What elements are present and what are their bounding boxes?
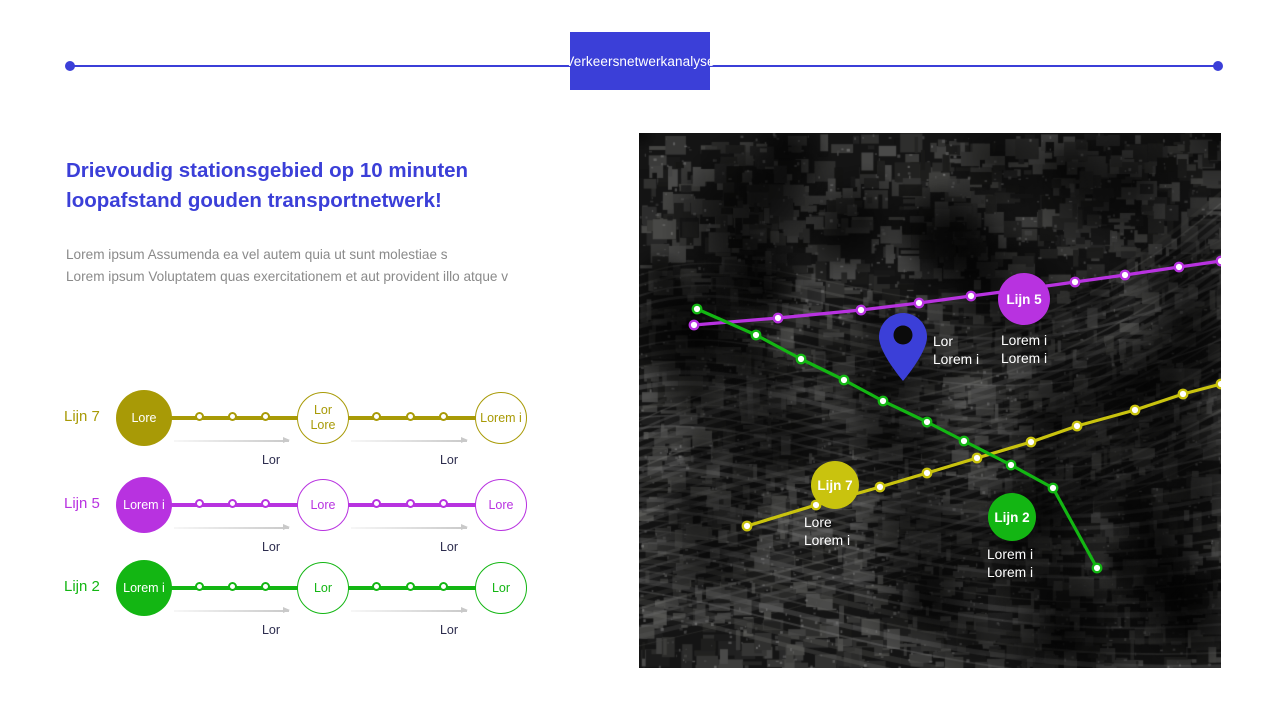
line-minor-stop[interactable] [439,499,448,508]
map-route-stop[interactable] [1176,264,1182,270]
map-route-stop[interactable] [1074,423,1080,429]
map-route-line [694,261,1221,325]
line-minor-stop[interactable] [406,582,415,591]
line-segment-label: Lor [419,540,479,554]
line-segment-label: Lor [241,623,301,637]
map-route-stop[interactable] [1122,272,1128,278]
map-line-badge[interactable]: Lijn 7 [811,461,859,509]
line-interchange-stop[interactable]: Lor [297,562,349,614]
map-route-stop[interactable] [1028,439,1034,445]
subtext-block: Lorem ipsum Assumenda ea vel autem quia … [66,244,606,289]
line-minor-stop[interactable] [372,582,381,591]
line-direction-arrow [351,610,467,612]
map-route-overlay [639,133,1221,668]
stop-label: Lorem i [480,411,522,426]
subtext-line-2: Lorem ipsum Voluptatem quas exercitation… [66,266,606,288]
line-minor-stop[interactable] [372,412,381,421]
header-title-chip: Verkeersnetwerkanalyse [570,32,710,90]
map-caption-line: Lorem i [1001,350,1047,368]
map-route-stop[interactable] [924,470,930,476]
stop-label: Lore [310,498,335,513]
map-route-stop[interactable] [1132,407,1138,413]
line-row-label: Lijn 5 [64,495,122,512]
map-route-stop[interactable] [744,523,750,529]
line-minor-stop[interactable] [372,499,381,508]
map-line-badge[interactable]: Lijn 2 [988,493,1036,541]
map-caption-line: Lorem i [804,532,850,550]
map-route-stop[interactable] [694,306,700,312]
line-interchange-stop[interactable]: Lore [297,479,349,531]
line-segment-label: Lor [241,453,301,467]
map-route-stop[interactable] [916,300,922,306]
map-route-stop[interactable] [880,398,886,404]
stop-label: Lore [131,411,156,426]
map-route-stop[interactable] [877,484,883,490]
line-origin-stop[interactable]: Lore [116,390,172,446]
line-minor-stop[interactable] [228,412,237,421]
map-pin-caption-line: Lorem i [933,351,979,369]
line-minor-stop[interactable] [195,582,204,591]
map-line-caption: LoreLorem i [804,514,850,550]
map-line-caption: Lorem iLorem i [987,546,1033,582]
line-direction-arrow [174,527,289,529]
line-segment-label: Lor [241,540,301,554]
line-minor-stop[interactable] [195,499,204,508]
map-caption-line: Lore [804,514,850,532]
map-route-stop[interactable] [924,419,930,425]
location-pin-icon [877,311,929,383]
map-route-stop[interactable] [1180,391,1186,397]
line-direction-arrow [351,527,467,529]
stop-label: Lor [314,403,332,418]
line-minor-stop[interactable] [439,412,448,421]
map-location-pin[interactable] [877,311,929,388]
map-route-stop[interactable] [1008,462,1014,468]
map-route-stop[interactable] [1050,485,1056,491]
line-minor-stop[interactable] [261,582,270,591]
header-dot-left [65,61,75,71]
map-route-stop[interactable] [858,307,864,313]
line-direction-arrow [174,440,289,442]
map-route-stop[interactable] [775,315,781,321]
map-pin-caption: LorLorem i [933,333,979,369]
map-route-stop[interactable] [968,293,974,299]
line-minor-stop[interactable] [228,582,237,591]
map-route-stop[interactable] [961,438,967,444]
line-row-label: Lijn 7 [64,408,122,425]
stop-label: Lorem i [123,498,165,513]
subtext-line-1: Lorem ipsum Assumenda ea vel autem quia … [66,244,606,266]
map-route-stop[interactable] [691,322,697,328]
stop-label: Lorem i [123,581,165,596]
line-minor-stop[interactable] [406,412,415,421]
line-terminus-stop[interactable]: Lorem i [475,392,527,444]
map-route-stop[interactable] [1072,279,1078,285]
line-origin-stop[interactable]: Lorem i [116,560,172,616]
map-route-stop[interactable] [841,377,847,383]
stop-label: Lor [492,581,510,596]
line-minor-stop[interactable] [195,412,204,421]
map-route-stop[interactable] [798,356,804,362]
map-caption-line: Lorem i [987,564,1033,582]
line-minor-stop[interactable] [406,499,415,508]
page-title: Drievoudig stationsgebied op 10 minuten … [66,156,586,215]
line-minor-stop[interactable] [228,499,237,508]
slide-root: Verkeersnetwerkanalyse Drievoudig statio… [0,0,1280,720]
map-caption-line: Lorem i [987,546,1033,564]
map-line-caption: Lorem iLorem i [1001,332,1047,368]
map-pin-caption-line: Lor [933,333,979,351]
line-minor-stop[interactable] [261,499,270,508]
header-dot-right [1213,61,1223,71]
map-route-stop[interactable] [974,455,980,461]
line-origin-stop[interactable]: Lorem i [116,477,172,533]
line-direction-arrow [351,440,467,442]
line-terminus-stop[interactable]: Lore [475,479,527,531]
map-caption-line: Lorem i [1001,332,1047,350]
line-direction-arrow [174,610,289,612]
line-minor-stop[interactable] [439,582,448,591]
stop-label: Lore [310,418,335,433]
line-row-label: Lijn 2 [64,578,122,595]
stop-label: Lor [314,581,332,596]
line-segment-label: Lor [419,623,479,637]
line-minor-stop[interactable] [261,412,270,421]
map-route-stop[interactable] [1094,565,1100,571]
stop-label: Lore [488,498,513,513]
line-segment-label: Lor [419,453,479,467]
line-row: Lijn 2LorLorLorem iLorLor [0,560,560,670]
line-interchange-stop[interactable]: LorLore [297,392,349,444]
line-terminus-stop[interactable]: Lor [475,562,527,614]
map-line-badge[interactable]: Lijn 5 [998,273,1050,325]
aerial-map[interactable]: Lijn 5Lorem iLorem iLijn 7LoreLorem iLij… [639,133,1221,668]
map-route-stop[interactable] [753,332,759,338]
